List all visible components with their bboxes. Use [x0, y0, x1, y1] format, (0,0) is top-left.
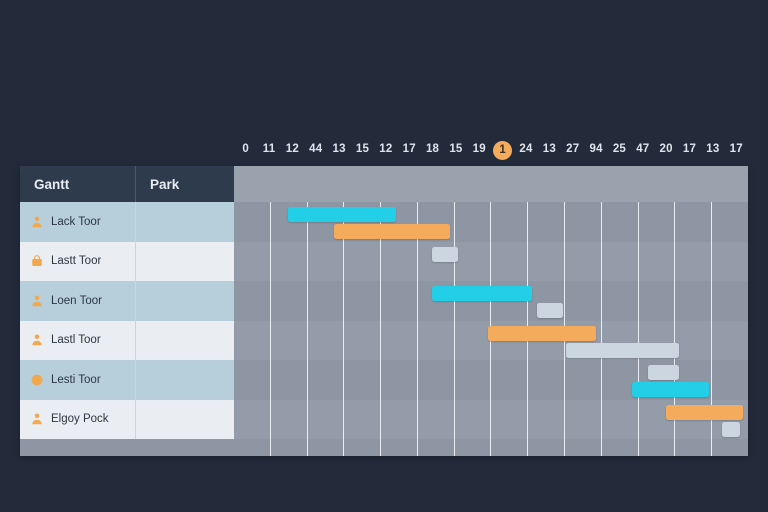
gantt-bar-gray[interactable]: [537, 303, 563, 318]
task-name-label: Lesti Toor: [51, 374, 101, 386]
park-cell[interactable]: [136, 202, 234, 242]
timeline-tick-label: 17: [683, 143, 696, 155]
timeline-tick-label: 44: [309, 143, 322, 155]
task-person-icon: [30, 294, 44, 308]
timeline-tick-label: 27: [566, 143, 579, 155]
task-person-icon: [30, 215, 44, 229]
timeline-tick-label: 18: [426, 143, 439, 155]
timeline-tick-label: 12: [286, 143, 299, 155]
timeline-tick-label: 15: [356, 143, 369, 155]
task-name-cell[interactable]: Lastl Toor: [20, 321, 136, 361]
timeline-tick-label: 13: [333, 143, 346, 155]
gantt-bar-orange[interactable]: [488, 326, 596, 341]
timeline-tick-label: 47: [636, 143, 649, 155]
task-bag-icon: [30, 254, 44, 268]
timeline-tick[interactable]: 13: [701, 144, 724, 156]
timeline-tick[interactable]: 13: [538, 144, 561, 156]
task-name-cell[interactable]: Lastt Toor: [20, 242, 136, 282]
timeline-tick[interactable]: 25: [608, 144, 631, 156]
task-name-cell[interactable]: Loen Toor: [20, 281, 136, 321]
timeline-tick[interactable]: 20: [654, 144, 677, 156]
gantt-bar-cyan[interactable]: [432, 286, 532, 301]
timeline-tick-label: 1: [493, 141, 512, 160]
task-name-cell[interactable]: Elgoy Pock: [20, 400, 136, 440]
table-header-row: Gantt Park: [20, 166, 748, 202]
timeline-tick-label: 20: [660, 143, 673, 155]
park-cell[interactable]: [136, 400, 234, 440]
timeline-tick-label: 17: [730, 143, 743, 155]
timeline-tick-label: 12: [379, 143, 392, 155]
timeline-tick[interactable]: 0: [234, 144, 257, 156]
timeline-tick-label: 0: [242, 143, 249, 155]
column-header-park-label: Park: [150, 177, 179, 192]
park-cell[interactable]: [136, 321, 234, 361]
timeline-tick[interactable]: 17: [678, 144, 701, 156]
timeline-tick-label: 13: [706, 143, 719, 155]
task-name-label: Lastt Toor: [51, 255, 101, 267]
park-cell[interactable]: [136, 242, 234, 282]
timeline-tick-selected[interactable]: 1: [491, 141, 514, 160]
timeline-tick-label: 24: [519, 143, 532, 155]
timeline-tick[interactable]: 47: [631, 144, 654, 156]
timeline-tick-label: 17: [403, 143, 416, 155]
timeline-tick[interactable]: 11: [257, 144, 280, 156]
column-header-gantt[interactable]: Gantt: [20, 166, 136, 202]
timeline-tick-label: 13: [543, 143, 556, 155]
timeline-tick[interactable]: 17: [398, 144, 421, 156]
task-person-icon: [30, 412, 44, 426]
gantt-bar-gray[interactable]: [432, 247, 458, 262]
timeline-tick[interactable]: 94: [584, 144, 607, 156]
row-chart-area: [234, 242, 748, 282]
column-header-gantt-label: Gantt: [34, 177, 69, 192]
gantt-bar-gray[interactable]: [648, 365, 679, 380]
task-name-cell[interactable]: Lesti Toor: [20, 360, 136, 400]
gantt-bar-cyan[interactable]: [632, 382, 709, 397]
table-row[interactable]: Elgoy Pock: [20, 400, 748, 440]
timeline-tick[interactable]: 27: [561, 144, 584, 156]
timeline-tick[interactable]: 13: [327, 144, 350, 156]
table-row[interactable]: Lastt Toor: [20, 242, 748, 282]
gantt-bar-orange[interactable]: [334, 224, 450, 239]
timeline-tick[interactable]: 24: [514, 144, 537, 156]
timeline-tick[interactable]: 12: [374, 144, 397, 156]
task-name-label: Elgoy Pock: [51, 413, 109, 425]
timeline-tick-label: 19: [473, 143, 486, 155]
timeline-tick-label: 11: [263, 143, 276, 155]
gantt-bar-cyan[interactable]: [288, 207, 396, 222]
task-person-icon: [30, 333, 44, 347]
timeline-tick[interactable]: 18: [421, 144, 444, 156]
task-name-label: Loen Toor: [51, 295, 102, 307]
gantt-chart-panel: Gantt Park Lack ToorLastt ToorLoen ToorL…: [20, 166, 748, 456]
timeline-ruler: 0111244131512171815191241327942547201713…: [234, 138, 748, 162]
timeline-tick-label: 15: [449, 143, 462, 155]
timeline-tick-label: 94: [589, 143, 602, 155]
task-name-cell[interactable]: Lack Toor: [20, 202, 136, 242]
timeline-tick[interactable]: 19: [468, 144, 491, 156]
task-circle-icon: [30, 373, 44, 387]
timeline-tick[interactable]: 12: [281, 144, 304, 156]
gantt-body: Lack ToorLastt ToorLoen ToorLastl ToorLe…: [20, 202, 748, 456]
task-rows: Lack ToorLastt ToorLoen ToorLastl ToorLe…: [20, 202, 748, 456]
timeline-header-spacer: [234, 166, 748, 202]
timeline-tick[interactable]: 17: [725, 144, 748, 156]
table-row[interactable]: Loen Toor: [20, 281, 748, 321]
park-cell[interactable]: [136, 281, 234, 321]
gantt-bar-gray[interactable]: [566, 343, 679, 358]
timeline-tick[interactable]: 44: [304, 144, 327, 156]
timeline-tick[interactable]: 15: [444, 144, 467, 156]
task-name-label: Lastl Toor: [51, 334, 101, 346]
timeline-tick-label: 25: [613, 143, 626, 155]
timeline-tick[interactable]: 15: [351, 144, 374, 156]
gantt-bar-orange[interactable]: [666, 405, 743, 420]
task-name-label: Lack Toor: [51, 216, 101, 228]
park-cell[interactable]: [136, 360, 234, 400]
gantt-bar-gray[interactable]: [722, 422, 740, 437]
column-header-park[interactable]: Park: [136, 166, 234, 202]
